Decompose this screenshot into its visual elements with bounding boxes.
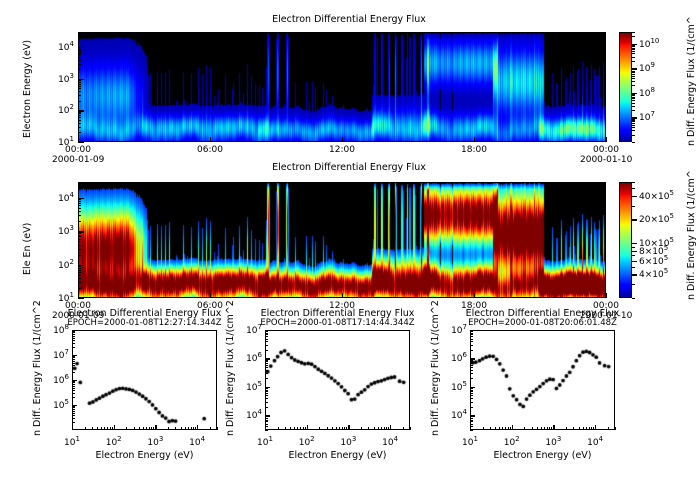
spectrum-xtick-label: 103 — [332, 435, 364, 448]
axis-tick — [470, 336, 473, 337]
axis-tick — [78, 235, 81, 236]
axis-tick — [508, 427, 509, 430]
axis-tick — [595, 425, 596, 430]
axis-tick — [151, 427, 152, 430]
axis-tick — [388, 427, 389, 430]
axis-tick — [72, 332, 75, 333]
panel2-colorbar — [619, 182, 632, 298]
panel1-spectrogram — [78, 32, 606, 142]
axis-tick — [510, 427, 511, 430]
xtick-label: 00:00 — [56, 145, 100, 155]
axis-tick — [72, 338, 75, 339]
axis-tick — [265, 367, 268, 368]
axis-tick — [107, 427, 108, 430]
axis-tick — [524, 427, 525, 430]
axis-tick — [78, 215, 81, 216]
axis-tick — [632, 261, 635, 262]
axis-tick — [537, 427, 538, 430]
axis-tick — [632, 78, 635, 79]
axis-tick — [265, 393, 268, 394]
panel1-colorbar — [619, 32, 632, 142]
axis-tick — [72, 397, 75, 398]
axis-tick — [185, 427, 186, 430]
spectrum-xtick-label: 102 — [291, 435, 323, 448]
axis-tick — [78, 239, 81, 240]
axis-tick — [544, 427, 545, 430]
axis-tick — [547, 427, 548, 430]
axis-tick — [175, 427, 176, 430]
axis-tick — [384, 427, 385, 430]
spectrum-xtick-label: 101 — [56, 435, 88, 448]
axis-tick — [632, 255, 635, 256]
axis-tick — [265, 334, 268, 335]
axis-tick — [72, 407, 75, 408]
axis-tick — [632, 119, 635, 120]
axis-tick — [72, 415, 75, 416]
axis-tick — [72, 418, 75, 419]
axis-tick — [72, 384, 75, 385]
axis-tick — [265, 363, 268, 364]
panel2-title: Electron Differential Energy Flux — [234, 162, 464, 173]
axis-tick — [72, 347, 75, 348]
axis-tick — [265, 420, 268, 421]
axis-tick — [72, 368, 75, 369]
axis-tick — [632, 100, 635, 101]
axis-tick — [512, 425, 513, 430]
spectrum-xlabel: Electron Energy (eV) — [62, 450, 227, 461]
ytick-label: 104 — [46, 191, 74, 204]
axis-tick — [361, 427, 362, 430]
axis-tick — [285, 427, 286, 430]
axis-tick — [566, 427, 567, 430]
axis-tick — [265, 373, 268, 374]
axis-tick — [470, 398, 473, 399]
axis-tick — [632, 127, 635, 128]
axis-tick — [72, 357, 75, 358]
axis-tick — [470, 420, 473, 421]
spectrum-ytick-label: 108 — [42, 323, 69, 336]
axis-tick — [78, 84, 81, 85]
axis-tick — [78, 38, 81, 39]
axis-tick — [632, 267, 635, 268]
axis-tick — [632, 182, 635, 183]
spectrum-xtick-label: 102 — [496, 435, 528, 448]
axis-tick — [632, 125, 635, 126]
ytick-label: 104 — [46, 40, 74, 53]
axis-tick — [78, 132, 81, 133]
axis-tick — [470, 373, 473, 374]
axis-tick — [197, 425, 198, 430]
spectrum-ytick-label: 107 — [440, 323, 467, 336]
axis-tick — [72, 388, 75, 389]
axis-tick — [470, 345, 473, 346]
axis-tick — [72, 382, 75, 383]
axis-tick — [265, 331, 268, 332]
spectrum-ylabel: n Diff. Energy Flux (1/(cm^2 — [32, 300, 43, 436]
axis-tick — [532, 427, 533, 430]
ytick-label: 103 — [46, 72, 74, 85]
axis-tick — [470, 331, 473, 332]
axis-tick — [78, 233, 81, 234]
axis-tick — [336, 427, 337, 430]
axis-tick — [78, 86, 81, 87]
axis-tick — [368, 427, 369, 430]
colorbar-tick-label: 108 — [639, 86, 655, 99]
axis-tick — [78, 241, 81, 242]
axis-tick — [632, 74, 635, 75]
axis-tick — [470, 430, 473, 431]
axis-tick — [78, 113, 81, 114]
axis-tick — [583, 427, 584, 430]
axis-tick — [632, 68, 635, 69]
axis-tick — [78, 50, 81, 51]
spectrum-xtick-label: 104 — [374, 435, 406, 448]
axis-tick — [78, 288, 81, 289]
spectrum-ytick-label: 106 — [42, 373, 69, 386]
axis-tick — [505, 427, 506, 430]
axis-tick — [632, 247, 635, 248]
axis-tick — [374, 427, 375, 430]
axis-tick — [553, 425, 554, 430]
axis-tick — [470, 378, 473, 379]
spectrum-plot-3 — [470, 330, 615, 430]
axis-tick — [632, 284, 635, 285]
axis-tick — [265, 395, 268, 396]
axis-tick — [470, 418, 473, 419]
axis-tick — [632, 135, 635, 136]
axis-tick — [72, 390, 75, 391]
axis-tick — [78, 32, 81, 33]
panel2-ylabel: Ele En (eV) — [22, 223, 33, 275]
axis-tick — [146, 427, 147, 430]
axis-tick — [78, 64, 81, 65]
axis-tick — [72, 406, 75, 407]
spectrum-ytick-label: 106 — [235, 351, 262, 364]
axis-tick — [632, 76, 635, 77]
axis-tick — [499, 427, 500, 430]
axis-tick — [78, 245, 81, 246]
axis-tick — [470, 350, 473, 351]
axis-tick — [632, 142, 635, 143]
spectrum-ytick-label: 107 — [235, 323, 262, 336]
axis-tick — [632, 274, 635, 275]
axis-tick — [327, 427, 328, 430]
axis-tick — [78, 82, 81, 83]
axis-tick — [586, 427, 587, 430]
axis-tick — [632, 49, 635, 50]
axis-tick — [85, 427, 86, 430]
xtick-label: 12:00 — [320, 145, 364, 155]
axis-tick — [386, 427, 387, 430]
axis-tick — [470, 416, 473, 417]
axis-tick — [210, 427, 211, 430]
axis-tick — [265, 360, 268, 361]
axis-tick — [191, 427, 192, 430]
spectrum-ytick-label: 107 — [42, 348, 69, 361]
axis-tick — [78, 293, 79, 298]
axis-tick — [632, 46, 635, 47]
axis-tick — [134, 427, 135, 430]
axis-tick — [188, 427, 189, 430]
spectrum-xlabel: Electron Energy (eV) — [255, 450, 420, 461]
spectrum-ytick-label: 106 — [440, 351, 467, 364]
axis-tick — [78, 275, 81, 276]
axis-tick — [632, 219, 635, 220]
axis-tick — [332, 427, 333, 430]
ytick-label: 102 — [46, 258, 74, 271]
axis-tick — [632, 81, 635, 82]
colorbar-tick-label: 1010 — [639, 37, 659, 50]
axis-tick — [319, 427, 320, 430]
axis-tick — [470, 391, 473, 392]
axis-tick — [490, 427, 491, 430]
axis-tick — [632, 71, 635, 72]
axis-tick — [339, 427, 340, 430]
axis-tick — [632, 97, 635, 98]
axis-tick — [78, 115, 81, 116]
axis-tick — [470, 370, 473, 371]
axis-tick — [265, 339, 268, 340]
axis-tick — [470, 334, 473, 335]
axis-tick — [265, 398, 268, 399]
axis-tick — [72, 409, 75, 410]
spectrum-ytick-label: 105 — [42, 398, 69, 411]
axis-tick — [72, 425, 73, 430]
axis-tick — [265, 378, 268, 379]
axis-tick — [78, 201, 81, 202]
axis-tick — [632, 120, 635, 121]
axis-tick — [378, 427, 379, 430]
axis-tick — [470, 361, 473, 362]
spectrum-xtick-label: 101 — [249, 435, 281, 448]
axis-tick — [72, 331, 75, 332]
axis-tick — [303, 427, 304, 430]
axis-tick — [110, 427, 111, 430]
spectrum-ylabel: n Diff. Energy Flux (1/(cm^2 — [225, 300, 236, 436]
axis-tick — [470, 390, 473, 391]
axis-tick — [112, 427, 113, 430]
spectrum-plot-2 — [265, 330, 410, 430]
xtick-label: 06:00 — [188, 145, 232, 155]
axis-tick — [78, 112, 81, 113]
spectrum-xtick-label: 102 — [98, 435, 130, 448]
axis-tick — [470, 402, 473, 403]
axis-tick — [632, 117, 635, 118]
axis-tick — [78, 120, 81, 121]
axis-tick — [78, 101, 81, 102]
axis-tick — [168, 427, 169, 430]
axis-tick — [72, 336, 75, 337]
axis-tick — [541, 427, 542, 430]
axis-tick — [72, 363, 75, 364]
axis-tick — [72, 359, 75, 360]
spectrum-ytick-label: 104 — [440, 408, 467, 421]
axis-tick — [470, 360, 473, 361]
axis-tick — [72, 365, 75, 366]
axis-tick — [593, 427, 594, 430]
axis-tick — [632, 57, 635, 58]
axis-tick — [78, 268, 81, 269]
axis-tick — [470, 367, 473, 368]
axis-tick — [72, 386, 75, 387]
axis-tick — [78, 282, 81, 283]
axis-tick — [290, 427, 291, 430]
axis-tick — [579, 427, 580, 430]
axis-tick — [72, 361, 75, 362]
axis-tick — [470, 341, 473, 342]
axis-tick — [483, 427, 484, 430]
axis-tick — [294, 427, 295, 430]
axis-tick — [632, 61, 635, 62]
axis-tick — [78, 91, 81, 92]
axis-tick — [342, 427, 343, 430]
axis-tick — [78, 52, 81, 53]
axis-tick — [573, 427, 574, 430]
panel1-colorbar-label: n Diff. Energy Flux (1/(cm^ — [686, 16, 697, 146]
axis-tick — [470, 421, 473, 422]
axis-tick — [104, 427, 105, 430]
axis-tick — [632, 32, 635, 33]
axis-tick — [589, 427, 590, 430]
axis-tick — [265, 430, 268, 431]
axis-tick — [632, 53, 635, 54]
axis-tick — [474, 137, 475, 142]
xtick-date-label: 2000-01-10 — [580, 155, 632, 165]
colorbar-tick-label: 20×105 — [639, 212, 674, 225]
axis-tick — [72, 422, 75, 423]
spectrum-xtick-label: 104 — [579, 435, 611, 448]
xtick-label: 18:00 — [452, 145, 496, 155]
axis-tick — [632, 95, 635, 96]
panel2-spectrogram — [78, 182, 606, 298]
axis-tick — [78, 278, 81, 279]
axis-tick — [265, 336, 268, 337]
axis-tick — [591, 427, 592, 430]
axis-tick — [265, 365, 268, 366]
axis-tick — [470, 395, 473, 396]
axis-tick — [632, 130, 635, 131]
axis-tick — [632, 48, 635, 49]
axis-tick — [181, 427, 182, 430]
axis-tick — [78, 182, 81, 183]
axis-tick — [155, 425, 156, 430]
axis-tick — [265, 425, 266, 430]
axis-tick — [632, 110, 635, 111]
axis-tick — [470, 365, 473, 366]
axis-tick — [346, 427, 347, 430]
xtick-label: 00:00 — [584, 145, 628, 155]
axis-tick — [265, 333, 268, 334]
spectrum-ytick-label: 105 — [440, 380, 467, 393]
axis-tick — [632, 121, 635, 122]
ytick-label: 102 — [46, 103, 74, 116]
spectrum-ytick-label: 104 — [235, 408, 262, 421]
axis-tick — [632, 94, 635, 95]
axis-tick — [344, 427, 345, 430]
axis-tick — [114, 425, 115, 430]
spectrum-xtick-label: 103 — [537, 435, 569, 448]
panel2-colorbar-label: n Diff. Energy Flux (1/(cm^ — [686, 170, 697, 300]
axis-tick — [126, 427, 127, 430]
axis-tick — [265, 361, 268, 362]
axis-tick — [78, 266, 81, 267]
axis-tick — [78, 54, 81, 55]
axis-tick — [78, 69, 81, 70]
axis-tick — [78, 57, 81, 58]
axis-tick — [72, 413, 75, 414]
axis-tick — [78, 95, 81, 96]
axis-tick — [153, 427, 154, 430]
axis-tick — [78, 208, 81, 209]
axis-tick — [265, 390, 268, 391]
spectrum-ytick-label: 105 — [235, 380, 262, 393]
axis-tick — [78, 127, 81, 128]
axis-tick — [470, 393, 473, 394]
axis-tick — [78, 270, 81, 271]
axis-tick — [632, 44, 635, 45]
xtick-date-label: 2000-01-09 — [52, 155, 104, 165]
axis-tick — [72, 340, 75, 341]
axis-tick — [72, 381, 75, 382]
axis-tick — [72, 411, 75, 412]
axis-tick — [403, 427, 404, 430]
spectrum-xtick-label: 104 — [181, 435, 213, 448]
colorbar-tick-label: 10×105 — [639, 236, 674, 249]
axis-tick — [632, 106, 635, 107]
axis-tick — [139, 427, 140, 430]
axis-tick — [149, 427, 150, 430]
axis-tick — [470, 333, 473, 334]
axis-tick — [615, 427, 616, 430]
axis-tick — [78, 203, 81, 204]
axis-tick — [632, 123, 635, 124]
axis-tick — [78, 211, 81, 212]
axis-tick — [265, 421, 268, 422]
axis-tick — [470, 407, 473, 408]
axis-tick — [632, 93, 635, 94]
axis-tick — [78, 205, 81, 206]
axis-tick — [297, 427, 298, 430]
spectrum-ylabel: n Diff. Energy Flux (1/(cm^2 — [430, 300, 441, 436]
axis-tick — [193, 427, 194, 430]
axis-tick — [342, 137, 343, 142]
axis-tick — [549, 427, 550, 430]
axis-tick — [606, 137, 607, 142]
axis-tick — [348, 425, 349, 430]
colorbar-tick-label: 109 — [639, 61, 655, 74]
axis-tick — [195, 427, 196, 430]
axis-tick — [78, 249, 81, 250]
axis-tick — [78, 88, 81, 89]
axis-tick — [78, 123, 81, 124]
axis-tick — [632, 98, 635, 99]
axis-tick — [265, 350, 268, 351]
axis-tick — [101, 427, 102, 430]
axis-tick — [300, 427, 301, 430]
axis-tick — [632, 243, 635, 244]
axis-tick — [278, 427, 279, 430]
axis-tick — [632, 298, 635, 299]
axis-tick — [210, 293, 211, 298]
axis-tick — [265, 391, 268, 392]
axis-tick — [72, 393, 75, 394]
axis-tick — [474, 293, 475, 298]
axis-tick — [632, 45, 635, 46]
axis-tick — [72, 356, 75, 357]
axis-tick — [495, 427, 496, 430]
axis-tick — [97, 427, 98, 430]
axis-tick — [78, 255, 81, 256]
